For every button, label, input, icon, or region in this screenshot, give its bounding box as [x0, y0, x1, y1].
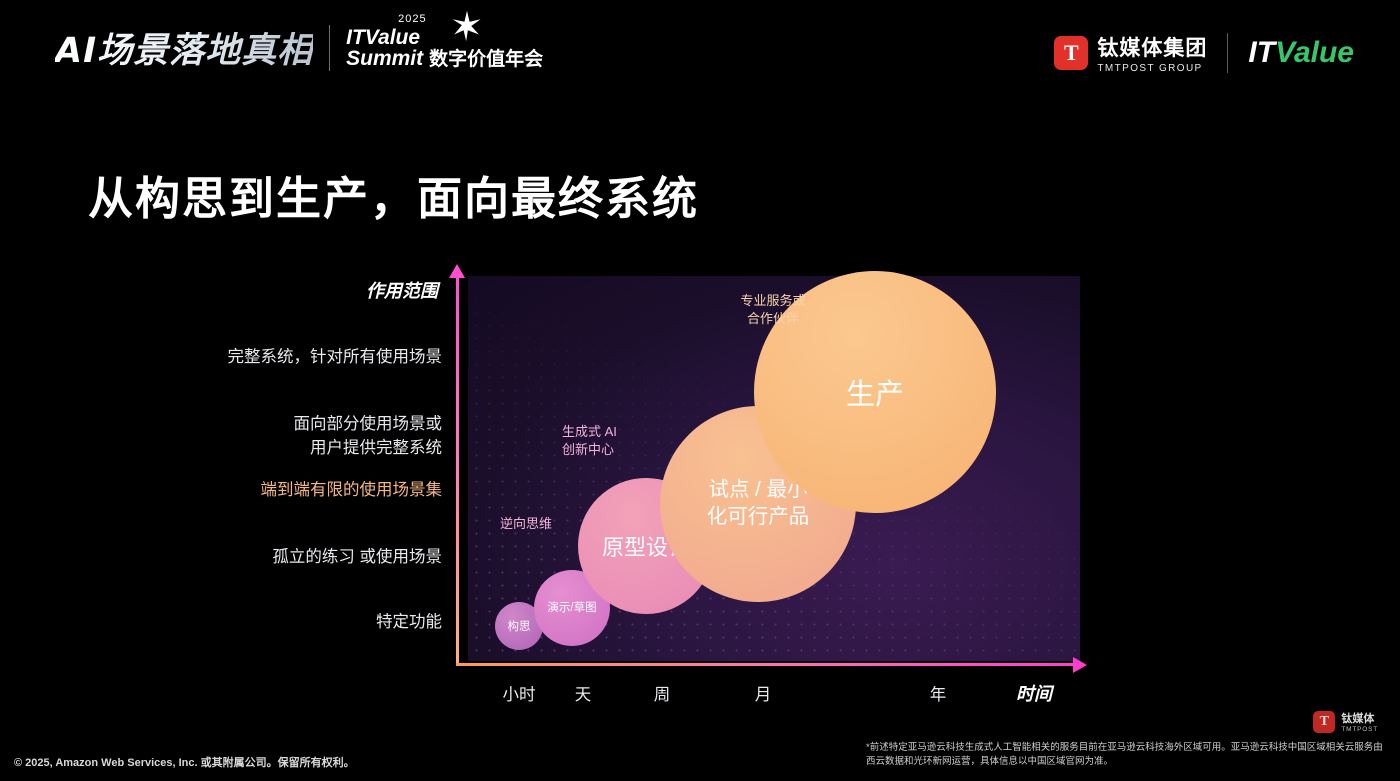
annotation-genai-center-line1: 生成式 AI [562, 423, 682, 441]
tmtpost-name-cn: 钛媒体集团 [1097, 32, 1207, 62]
watermark-line1: 钛媒体 [1341, 710, 1378, 726]
x-axis-line [456, 663, 1078, 666]
y-tick-label-1: 特定功能 [122, 611, 442, 635]
y-axis-label: 作用范围 [366, 277, 438, 303]
annotation-professional-services-line1: 专业服务或 [703, 292, 843, 310]
watermark-mark-icon: T [1313, 711, 1335, 733]
slide-header: AI场景落地真相 2025 ITValue Summit 数字价值年会 T 钛媒… [0, 0, 1400, 100]
x-tick-label-4: 月 [723, 681, 803, 705]
tmtpost-name-en: TMTPOST GROUP [1097, 63, 1207, 74]
y-tick-label-4b: 用户提供完整系统 [122, 437, 442, 461]
tmtpost-mark-icon: T [1054, 36, 1088, 70]
summit-year: 2025 [398, 14, 426, 25]
bubble-production-label: 生产 [846, 371, 904, 413]
bubble-pilot-mvp-label-line2: 化可行产品 [707, 504, 810, 531]
itvalue-logo: ITValue [1248, 36, 1354, 70]
footer-copyright: © 2025, Amazon Web Services, Inc. 或其附属公司… [14, 754, 355, 770]
summit-logo: 2025 ITValue Summit 数字价值年会 [346, 27, 543, 69]
event-logo-left: AI场景落地真相 2025 ITValue Summit 数字价值年会 [55, 22, 543, 73]
y-tick-label-5: 完整系统，针对所有使用场景 [122, 346, 442, 370]
x-axis-arrow-icon [1073, 657, 1087, 673]
tmtpost-logo: T 钛媒体集团 TMTPOST GROUP [1054, 32, 1207, 74]
x-axis-label: 时间 [1016, 680, 1052, 706]
x-tick-label-5: 年 [898, 681, 978, 705]
y-tick-label-4a: 面向部分使用场景或 [122, 413, 442, 437]
bubble-demo-sketch-label: 演示/草图 [547, 601, 596, 615]
annotation-genai-center-line2: 创新中心 [562, 441, 682, 459]
x-tick-label-2: 天 [543, 681, 623, 705]
sponsor-divider [1227, 33, 1228, 73]
summit-cn: 数字价值年会 [429, 50, 543, 69]
summit-line1: ITValue [346, 27, 543, 48]
y-axis-line [456, 276, 459, 666]
y-tick-label-3: 端到端有限的使用场景集 [122, 479, 442, 503]
brand-title-cn: AI场景落地真相 [55, 22, 313, 73]
star-icon [450, 9, 484, 43]
watermark-line2: TMTPOST [1341, 726, 1378, 733]
itvalue-value: Value [1275, 36, 1354, 69]
summit-line2: Summit [346, 48, 423, 69]
footer-watermark: T 钛媒体 TMTPOST [1313, 710, 1378, 733]
bubble-ideation-label: 构思 [508, 618, 531, 634]
slide: AI场景落地真相 2025 ITValue Summit 数字价值年会 T 钛媒… [0, 0, 1400, 781]
sponsor-logos: T 钛媒体集团 TMTPOST GROUP ITValue [1054, 32, 1354, 74]
annotation-professional-services-line2: 合作伙伴 [703, 310, 843, 328]
y-tick-label-2: 孤立的练习 或使用场景 [122, 546, 442, 570]
annotation-working-backwards: 逆向思维 [500, 515, 610, 533]
footer-disclaimer: *前述特定亚马逊云科技生成式人工智能相关的服务目前在亚马逊云科技海外区域可用。亚… [866, 741, 1386, 770]
page-title: 从构思到生产，面向最终系统 [88, 162, 699, 227]
itvalue-it: IT [1248, 36, 1275, 69]
annotation-genai-center: 生成式 AI 创新中心 [562, 423, 682, 458]
annotation-professional-services: 专业服务或 合作伙伴 [703, 292, 843, 327]
y-axis-arrow-icon [449, 264, 465, 278]
logo-divider [329, 25, 330, 71]
x-tick-label-3: 周 [622, 681, 702, 705]
